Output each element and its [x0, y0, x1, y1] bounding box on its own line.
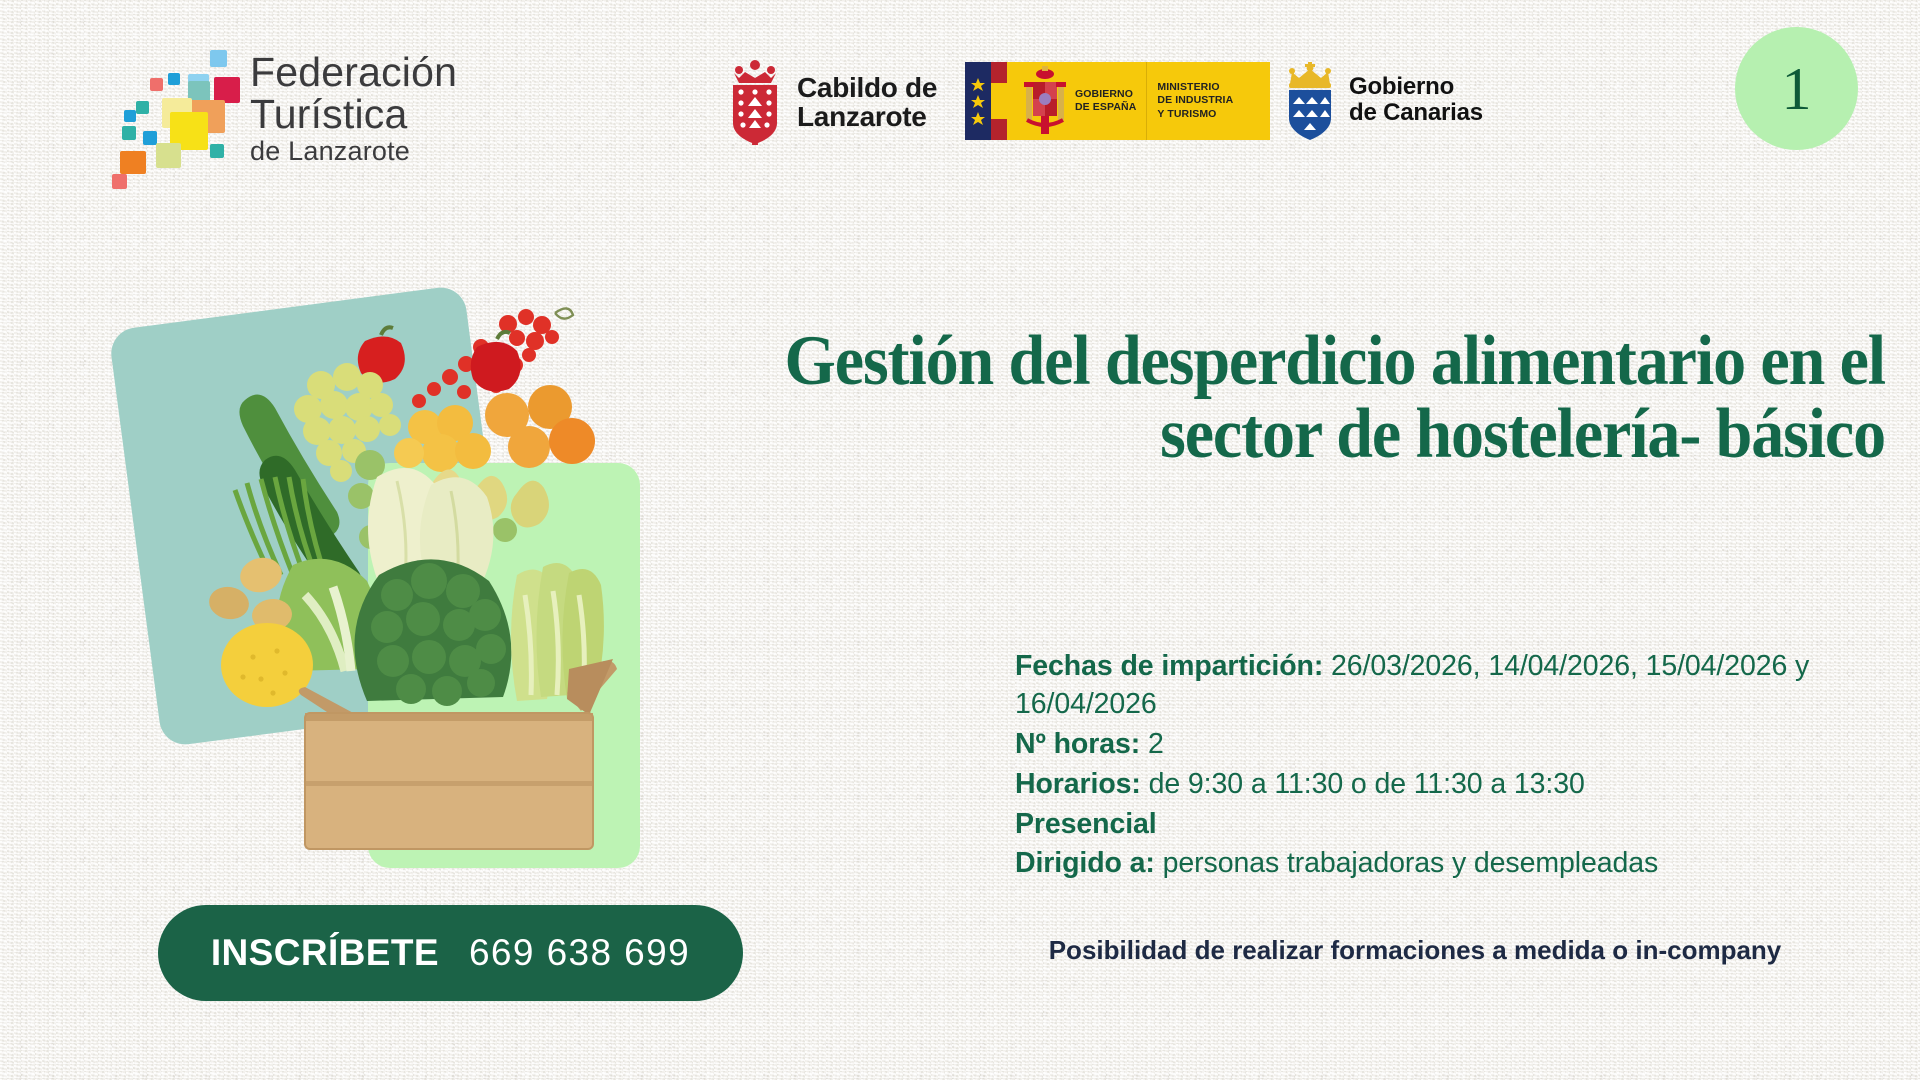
logo-cabildo-lanzarote: Cabildo de Lanzarote — [725, 52, 955, 152]
produce-collage-artwork — [125, 265, 725, 865]
detail-label-dirigido: Dirigido a: — [1015, 847, 1155, 879]
spain-coat-of-arms-icon — [1021, 62, 1069, 140]
detail-value-horarios: de 9:30 a 11:30 o de 11:30 a 13:30 — [1141, 768, 1585, 800]
federacion-line-3: de Lanzarote — [250, 138, 530, 166]
detail-value-horas: 2 — [1140, 728, 1164, 760]
logo-federacion-turistica-lanzarote: Federación Turística de Lanzarote — [110, 48, 530, 193]
page-number-value: 1 — [1782, 59, 1812, 119]
incompany-note: Posibilidad de realizar formaciones a me… — [1015, 935, 1815, 966]
cta-label: INSCRÍBETE — [211, 932, 439, 974]
federacion-line-2: Turística — [250, 94, 530, 136]
ministerio-line-3: Y TURISMO — [1157, 108, 1233, 121]
canarias-text: Gobierno de Canarias — [1349, 74, 1483, 126]
mosaic-squares-icon — [110, 48, 250, 193]
detail-label-horarios: Horarios: — [1015, 768, 1141, 800]
detail-row-dirigido: Dirigido a: personas trabajadoras y dese… — [1015, 845, 1895, 883]
cabildo-text: Cabildo de Lanzarote — [797, 73, 937, 132]
inscribete-cta-button[interactable]: INSCRÍBETE 669 638 699 — [158, 905, 743, 1001]
detail-row-modalidad: Presencial — [1015, 806, 1895, 844]
ministerio-line-2: DE INDUSTRIA — [1157, 94, 1233, 107]
cabildo-shield-icon — [725, 59, 785, 145]
canarias-line-1: Gobierno — [1349, 74, 1483, 100]
ministerio-line-1: MINISTERIO — [1157, 81, 1233, 94]
cabildo-line-1: Cabildo de — [797, 73, 937, 102]
spain-flag-strip-icon — [965, 62, 1021, 140]
header-logo-bar: Federación Turística de Lanzarote — [0, 0, 1920, 190]
ministerio-industria-turismo-text: MINISTERIO DE INDUSTRIA Y TURISMO — [1146, 62, 1243, 140]
detail-label-fechas: Fechas de impartición: — [1015, 650, 1323, 682]
gobierno-line-1: GOBIERNO — [1075, 88, 1136, 101]
cta-phone-number[interactable]: 669 638 699 — [469, 932, 690, 974]
canarias-line-2: de Canarias — [1349, 100, 1483, 126]
course-title: Gestión del desperdicio alimentario en e… — [783, 325, 1885, 471]
logo-gobierno-canarias: Gobierno de Canarias — [1282, 55, 1502, 145]
canarias-shield-icon — [1282, 60, 1338, 140]
detail-row-fechas: Fechas de impartición: 26/03/2026, 14/04… — [1015, 648, 1895, 724]
logo-gobierno-espana-ministerio: GOBIERNO DE ESPAÑA MINISTERIO DE INDUSTR… — [965, 62, 1270, 140]
page-number-badge: 1 — [1735, 27, 1858, 150]
gobierno-line-2: DE ESPAÑA — [1075, 101, 1136, 114]
cabildo-line-2: Lanzarote — [797, 102, 937, 131]
course-details-list: Fechas de impartición: 26/03/2026, 14/04… — [1015, 648, 1895, 885]
detail-label-modalidad: Presencial — [1015, 808, 1157, 840]
detail-row-horas: Nº horas: 2 — [1015, 726, 1895, 764]
detail-row-horarios: Horarios: de 9:30 a 11:30 o de 11:30 a 1… — [1015, 766, 1895, 804]
detail-value-dirigido: personas trabajadoras y desempleadas — [1155, 847, 1658, 879]
detail-label-horas: Nº horas: — [1015, 728, 1140, 760]
federacion-line-1: Federación — [250, 52, 530, 94]
vegetable-box-illustration — [125, 265, 725, 865]
gobierno-espana-text: GOBIERNO DE ESPAÑA — [1069, 62, 1146, 140]
